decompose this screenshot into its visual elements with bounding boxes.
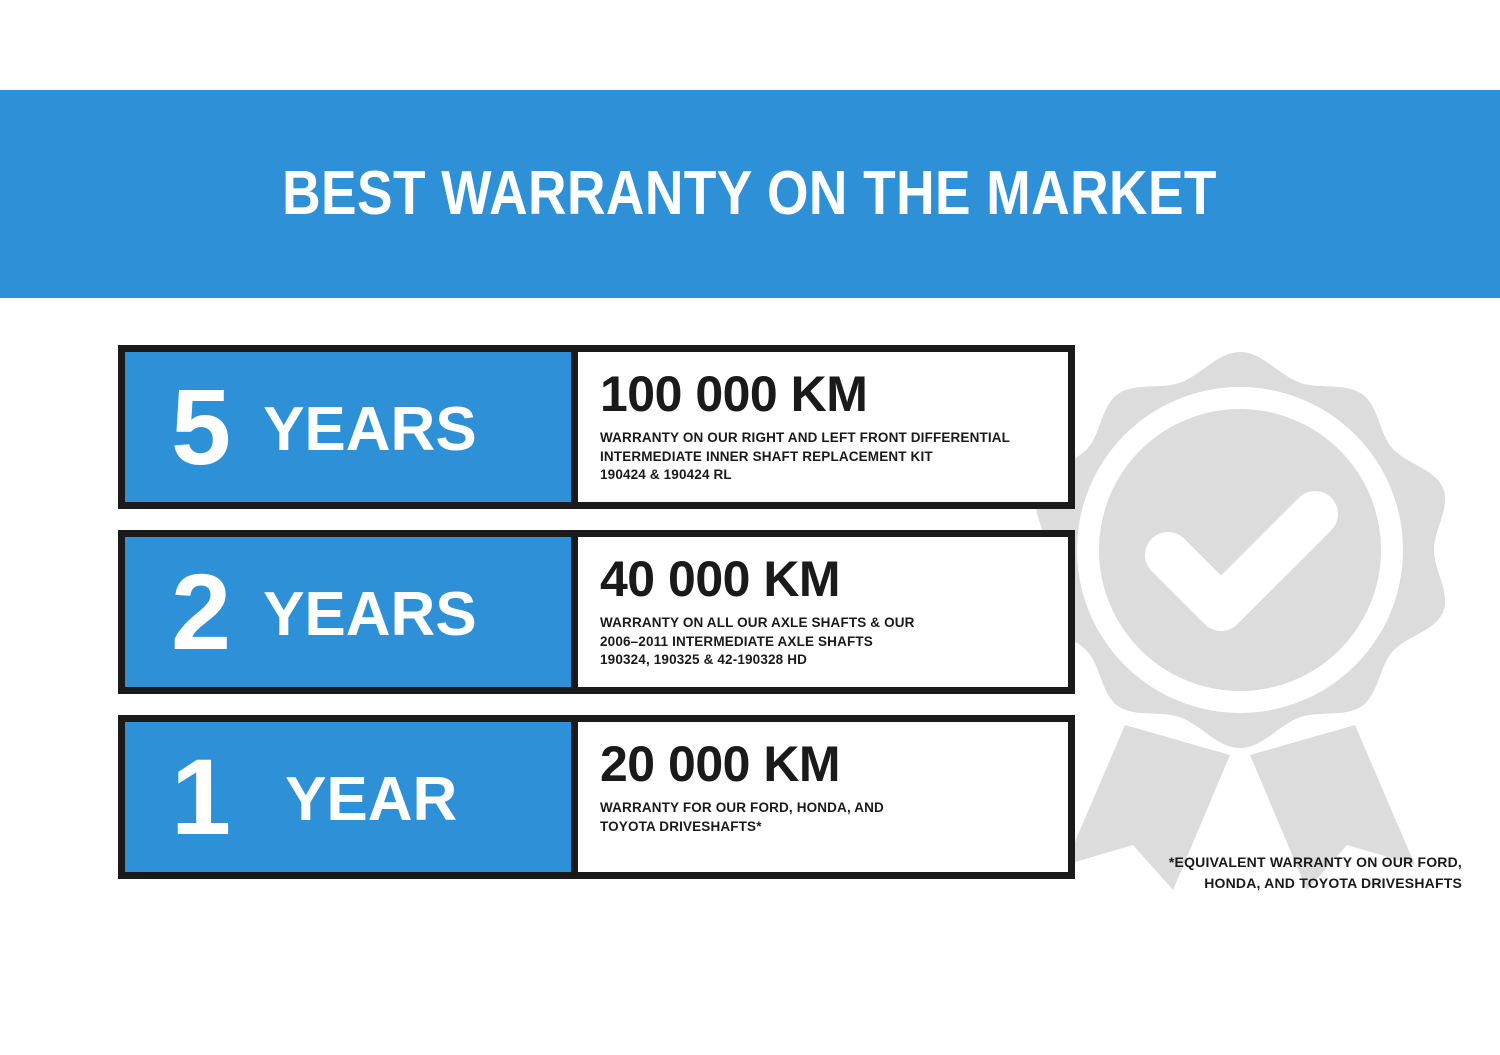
page-title: BEST WARRANTY ON THE MARKET: [283, 163, 1218, 225]
warranty-term-unit: YEAR: [285, 769, 457, 831]
warranty-distance: 40 000 KM: [600, 553, 1068, 605]
warranty-description: WARRANTY ON ALL OUR AXLE SHAFTS & OUR 20…: [600, 614, 1068, 670]
footnote-line: HONDA, AND TOYOTA DRIVESHAFTS: [1042, 873, 1462, 894]
warranty-term-number: 2: [171, 566, 229, 659]
warranty-row: 5 YEARS 100 000 KM WARRANTY ON OUR RIGHT…: [118, 345, 1075, 509]
warranty-term-block: 5 YEARS: [125, 352, 578, 502]
footnote-line: *EQUIVALENT WARRANTY ON OUR FORD,: [1042, 852, 1462, 873]
warranty-part-numbers: 190324, 190325 & 42-190328 HD: [600, 651, 1068, 670]
warranty-term-block: 1 YEAR: [125, 722, 578, 872]
warranty-term-number: 5: [171, 381, 229, 474]
footnote: *EQUIVALENT WARRANTY ON OUR FORD, HONDA,…: [1042, 852, 1462, 894]
award-badge-check-icon: [1025, 345, 1455, 890]
warranty-description-line: 2006–2011 INTERMEDIATE AXLE SHAFTS: [600, 633, 1068, 652]
warranty-detail-block: 40 000 KM WARRANTY ON ALL OUR AXLE SHAFT…: [578, 537, 1068, 687]
warranty-term-unit: YEARS: [263, 399, 477, 461]
warranty-part-numbers: 190424 & 190424 RL: [600, 466, 1068, 485]
warranty-detail-block: 20 000 KM WARRANTY FOR OUR FORD, HONDA, …: [578, 722, 1068, 872]
warranty-description-line: TOYOTA DRIVESHAFTS*: [600, 818, 1068, 837]
warranty-term-block: 2 YEARS: [125, 537, 578, 687]
warranty-distance: 100 000 KM: [600, 368, 1068, 420]
warranty-description: WARRANTY FOR OUR FORD, HONDA, AND TOYOTA…: [600, 799, 1068, 836]
warranty-description-line: WARRANTY FOR OUR FORD, HONDA, AND: [600, 799, 1068, 818]
warranty-row: 2 YEARS 40 000 KM WARRANTY ON ALL OUR AX…: [118, 530, 1075, 694]
warranty-description-line: WARRANTY ON OUR RIGHT AND LEFT FRONT DIF…: [600, 429, 1068, 448]
warranty-description: WARRANTY ON OUR RIGHT AND LEFT FRONT DIF…: [600, 429, 1068, 485]
warranty-detail-block: 100 000 KM WARRANTY ON OUR RIGHT AND LEF…: [578, 352, 1068, 502]
warranty-distance: 20 000 KM: [600, 738, 1068, 790]
warranty-row: 1 YEAR 20 000 KM WARRANTY FOR OUR FORD, …: [118, 715, 1075, 879]
warranty-description-line: INTERMEDIATE INNER SHAFT REPLACEMENT KIT: [600, 448, 1068, 467]
warranty-description-line: WARRANTY ON ALL OUR AXLE SHAFTS & OUR: [600, 614, 1068, 633]
warranty-rows: 5 YEARS 100 000 KM WARRANTY ON OUR RIGHT…: [118, 345, 1075, 879]
header-band: BEST WARRANTY ON THE MARKET: [0, 90, 1500, 298]
warranty-term-number: 1: [171, 751, 229, 844]
warranty-term-unit: YEARS: [263, 584, 477, 646]
